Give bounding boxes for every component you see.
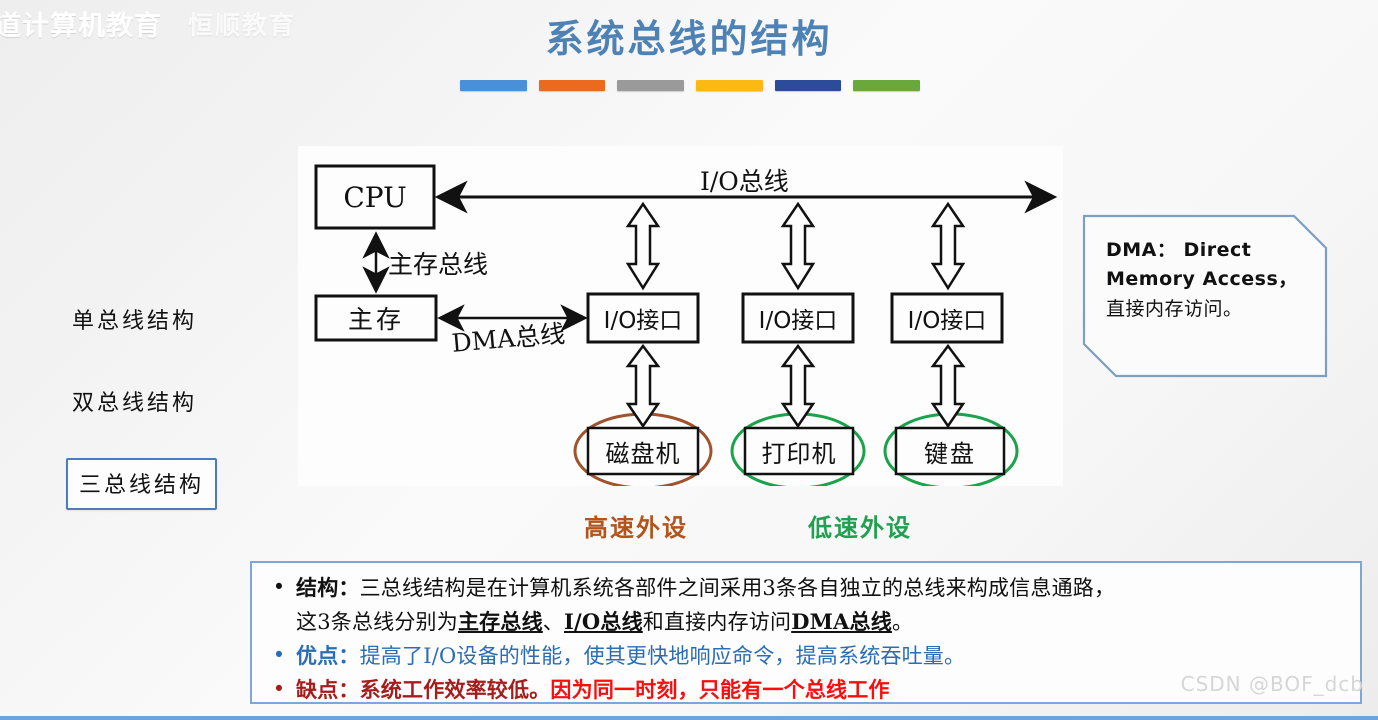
main-memory-label: 主存 — [316, 296, 436, 340]
printer-label: 打印机 — [745, 428, 853, 474]
keyboard-label: 键盘 — [896, 428, 1004, 474]
sidebar-item-single-bus[interactable]: 单总线结构 — [72, 303, 197, 335]
note-advantage-body: 提高了I/O设备的性能，使其更快地响应命令，提高系统吞吐量。 — [360, 644, 966, 668]
sidebar-item-triple-bus[interactable]: 三总线结构 — [66, 458, 217, 510]
note-bullet-disadvantage: • — [262, 673, 296, 706]
bottom-accent-rule — [0, 716, 1378, 720]
note-structure-line2b: 、 — [543, 610, 564, 634]
note-bullet-structure: • — [262, 571, 296, 604]
io-interface-label-1: I/O接口 — [588, 294, 698, 342]
title-accent-bars — [460, 80, 920, 92]
bus-structure-diagram: CPU 主存 I/O接口 I/O接口 I/O接口 磁盘机 打印机 键盘 I/O总… — [298, 146, 1063, 486]
bar-navy — [775, 80, 842, 91]
note-structure-u2: I/O总线 — [564, 609, 643, 634]
note-bullet-advantage: • — [262, 639, 296, 672]
note-structure-line1: 三总线结构是在计算机系统各部件之间采用3条各自独立的总线来构成信息通路， — [360, 576, 1116, 600]
dma-callout: DMA： Direct Memory Access， 直接内存访问。 — [1082, 214, 1328, 378]
hollow-arrow-bus-to-if-3 — [933, 204, 963, 288]
dma-callout-text: DMA： Direct Memory Access， 直接内存访问。 — [1106, 236, 1312, 324]
note-disadvantage-dark: 系统工作效率较低。 — [360, 677, 551, 702]
io-interface-label-2: I/O接口 — [743, 294, 853, 342]
bar-gray — [617, 80, 684, 91]
bar-blue — [460, 80, 527, 91]
note-label-advantage: 优点： — [296, 643, 360, 668]
bar-orange — [539, 80, 606, 91]
disk-label: 磁盘机 — [588, 428, 698, 474]
watermark-bottom-right: CSDN @BOF_dcb — [1181, 672, 1364, 696]
note-row-structure: • 结构：三总线结构是在计算机系统各部件之间采用3条各自独立的总线来构成信息通路… — [262, 571, 1354, 639]
cpu-label: CPU — [316, 166, 434, 228]
note-text-advantage: 优点：提高了I/O设备的性能，使其更快地响应命令，提高系统吞吐量。 — [296, 639, 1354, 673]
note-structure-line2c: 和直接内存访问 — [643, 610, 791, 634]
hollow-arrow-bus-to-if-2 — [783, 204, 813, 288]
dma-line-2: Memory Access， — [1106, 265, 1312, 294]
sidebar-item-dual-bus[interactable]: 双总线结构 — [72, 385, 197, 417]
low-speed-caption: 低速外设 — [808, 508, 912, 543]
note-disadvantage-bright: 因为同一时刻，只能有一个总线工作 — [550, 677, 889, 702]
bar-yellow — [696, 80, 763, 91]
note-row-advantage: • 优点：提高了I/O设备的性能，使其更快地响应命令，提高系统吞吐量。 — [262, 639, 1354, 673]
page-title: 系统总线的结构 — [0, 8, 1378, 63]
bar-green — [853, 80, 920, 91]
note-structure-line2a: 这3条总线分别为 — [296, 610, 458, 634]
slide-root: 道计算机教育 恒顺教育 系统总线的结构 单总线结构 双总线结构 三总线结构 — [0, 0, 1378, 720]
note-text-structure: 结构：三总线结构是在计算机系统各部件之间采用3条各自独立的总线来构成信息通路， … — [296, 571, 1354, 639]
note-structure-line2d: 。 — [892, 610, 913, 634]
note-label-structure: 结构： — [296, 575, 360, 600]
high-speed-caption: 高速外设 — [584, 508, 688, 543]
note-structure-u3: DMA总线 — [791, 609, 892, 634]
hollow-arrow-bus-to-if-1 — [628, 204, 658, 288]
dma-line-1: DMA： Direct — [1106, 236, 1312, 265]
dma-line-3: 直接内存访问。 — [1106, 295, 1312, 324]
note-structure-u1: 主存总线 — [458, 609, 543, 634]
note-label-disadvantage: 缺点： — [296, 677, 360, 702]
io-interface-label-3: I/O接口 — [892, 294, 1002, 342]
io-bus-label: I/O总线 — [700, 162, 789, 198]
main-memory-bus-label: 主存总线 — [388, 245, 488, 281]
